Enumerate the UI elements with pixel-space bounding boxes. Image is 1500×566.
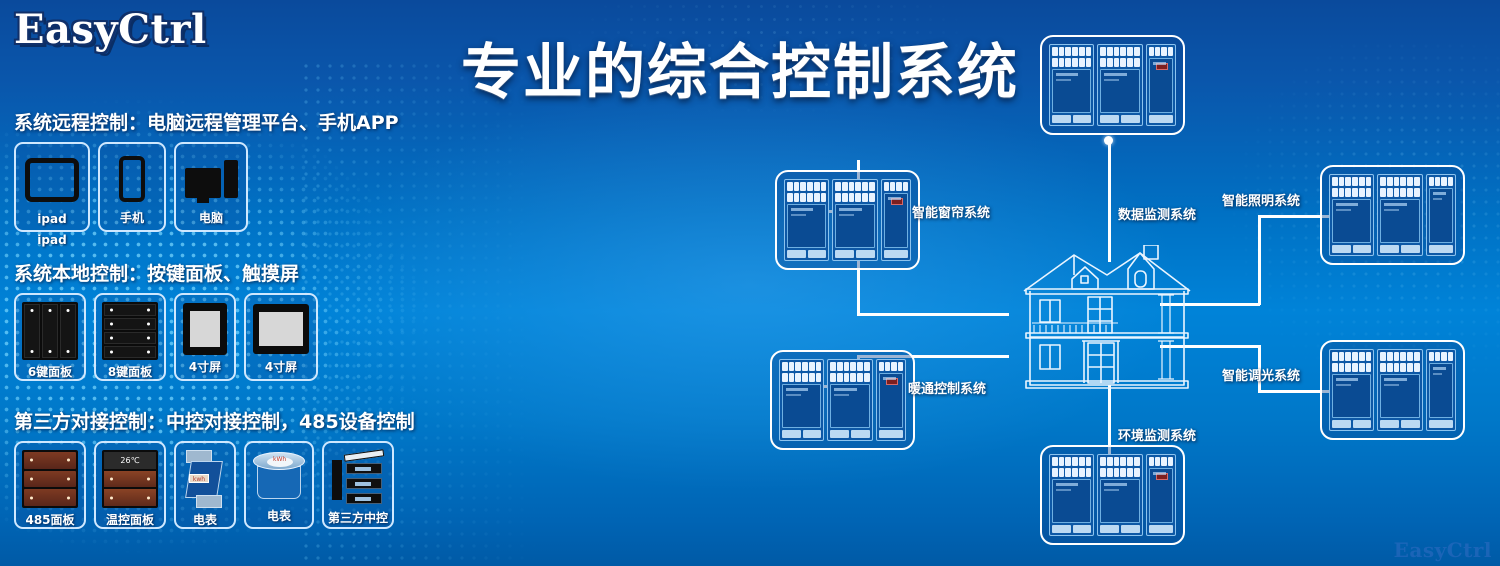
meter-inline-display: kwh	[189, 474, 209, 483]
computer-icon	[185, 151, 238, 206]
device-card-label: 6键面板	[28, 363, 72, 380]
device-card-4inch-screen[interactable]: 4寸屏	[174, 293, 236, 381]
node-label-hvac: 暖通控制系统	[908, 378, 986, 397]
thermostat-display: 26℃	[104, 452, 156, 469]
eight-key-panel-icon	[102, 302, 158, 360]
node-label-lighting: 智能照明系统	[1222, 190, 1300, 209]
group-heading: 第三方对接控制：中控对接控制，485设备控制	[14, 407, 415, 434]
din-controller-module	[784, 179, 911, 261]
four-inch-screen-icon	[183, 302, 227, 355]
device-card-meter-inline[interactable]: kwh 电表	[174, 441, 236, 529]
din-controller-module	[779, 359, 906, 441]
device-card-6key-panel[interactable]: 6键面板	[14, 293, 86, 381]
brand-logo: EasyCtrl	[14, 6, 207, 53]
wire-lighting-down	[1258, 215, 1261, 305]
device-card-8key-panel[interactable]: 8键面板	[94, 293, 166, 381]
device-card-computer[interactable]: 电脑	[174, 142, 248, 232]
group-heading: 系统远程控制：电脑远程管理平台、手机APP	[14, 108, 399, 135]
node-label-env: 环境监测系统	[1118, 425, 1196, 444]
four-inch-screen-wide-icon	[253, 302, 309, 355]
device-card-label: 电表	[267, 507, 291, 524]
device-card-label: 4寸屏	[189, 358, 221, 375]
device-card-label: ipad	[37, 212, 66, 226]
din-controller-module	[1049, 454, 1176, 536]
device-node-curtain[interactable]	[775, 170, 920, 270]
node-label-curtain: 智能窗帘系统	[912, 202, 990, 221]
device-node-lighting[interactable]	[1320, 165, 1465, 265]
device-card-row: 6键面板 8键面板 4寸屏 4寸屏	[14, 293, 318, 381]
device-card-label: 4寸屏	[265, 358, 297, 375]
junction-dot-monitor	[1104, 136, 1113, 145]
device-card-label: 第三方中控	[328, 509, 388, 526]
thermostat-panel-icon: 26℃	[102, 450, 158, 508]
device-card-rs485-panel[interactable]: 485面板	[14, 441, 86, 529]
device-card-label: 8键面板	[108, 363, 152, 380]
device-card-label: 手机	[120, 209, 144, 226]
third-party-rack-icon	[332, 450, 384, 506]
device-card-label: 温控面板	[106, 511, 154, 528]
meter-round-display: kWh	[273, 456, 286, 463]
din-controller-module	[1329, 174, 1456, 256]
device-card-meter-round[interactable]: kWh 电表	[244, 441, 314, 529]
device-card-label: 电脑	[199, 209, 223, 226]
device-card-ipad[interactable]: ipad ipad	[14, 142, 90, 232]
poster-canvas: EasyCtrl 专业的综合控制系统 系统远程控制：电脑远程管理平台、手机APP…	[0, 0, 1500, 566]
node-label-dimming: 智能调光系统	[1222, 365, 1300, 384]
din-controller-module	[1329, 349, 1456, 431]
tablet-icon	[25, 151, 79, 209]
device-card-label: 电表	[193, 511, 217, 528]
device-card-row: 485面板 26℃ 温控面板 kwh	[14, 441, 415, 529]
device-card-thermostat-panel[interactable]: 26℃ 温控面板	[94, 441, 166, 529]
wire-curtain-to-house	[857, 313, 1009, 316]
device-node-hvac[interactable]	[770, 350, 915, 450]
device-card-label: 485面板	[25, 511, 74, 528]
watermark: EasyCtrl	[1394, 538, 1492, 562]
device-card-4inch-screen-wide[interactable]: 4寸屏	[244, 293, 318, 381]
system-topology-diagram: 智能窗帘系统 数据监测系统 智能照明系统	[740, 55, 1500, 560]
group-local-control: 系统本地控制：按键面板、触摸屏 6键面板 8键面板 4寸屏 4寸屏	[14, 259, 318, 381]
device-card-sublabel: ipad	[16, 233, 88, 247]
meter-round-icon: kWh	[253, 450, 305, 504]
device-card-third-party-rack[interactable]: 第三方中控	[322, 441, 394, 529]
device-node-dimming[interactable]	[1320, 340, 1465, 440]
group-remote-control: 系统远程控制：电脑远程管理平台、手机APP ipad ipad 手机 电脑	[14, 108, 399, 232]
node-label-monitor: 数据监测系统	[1118, 204, 1196, 223]
group-third-party-control: 第三方对接控制：中控对接控制，485设备控制 485面板 26℃ 温控面板	[14, 407, 415, 529]
din-controller-module	[1049, 44, 1176, 126]
wire-monitor-down	[1108, 140, 1111, 262]
villa-house-illustration	[1012, 245, 1202, 400]
six-key-panel-icon	[22, 302, 78, 360]
device-card-row: ipad ipad 手机 电脑	[14, 142, 399, 232]
device-node-monitor[interactable]	[1040, 35, 1185, 135]
meter-inline-icon: kwh	[182, 450, 228, 508]
phone-icon	[119, 151, 145, 206]
device-node-env[interactable]	[1040, 445, 1185, 545]
group-heading: 系统本地控制：按键面板、触摸屏	[14, 259, 318, 286]
rs485-panel-icon	[22, 450, 78, 508]
device-card-phone[interactable]: 手机	[98, 142, 166, 232]
